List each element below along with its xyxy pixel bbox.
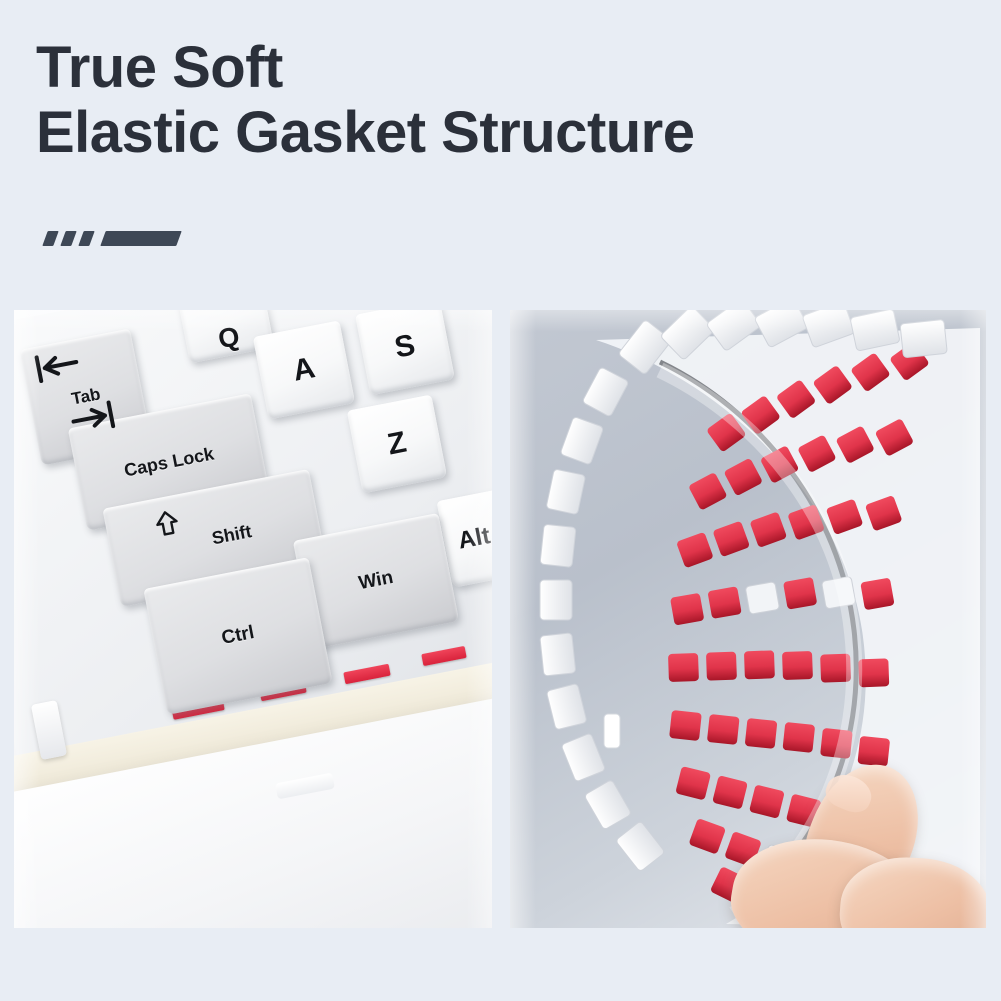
keycap-label: Z [385,426,409,463]
divider-bar-icon [100,231,181,246]
slanted-bar-divider [45,228,179,248]
keycap-label: Caps Lock [122,443,215,481]
divider-tick-icon [78,231,94,246]
headline-line-2: Elastic Gasket Structure [36,103,936,162]
keycap-label: Q [216,320,243,354]
divider-tick-icon [60,231,76,246]
keycap-label: A [290,351,318,389]
keycap-label: Alt [456,522,492,556]
page-title: True Soft Elastic Gasket Structure [36,38,936,162]
headline-line-1: True Soft [36,38,936,97]
divider-tick-icon [42,231,58,246]
tab-arrows-icon [28,339,130,446]
keycap-z[interactable]: Z [347,395,447,494]
keycap-label: S [392,328,418,365]
keycap-label: Shift [210,521,253,549]
photo-flexible-pcb-bend [510,310,986,928]
keycap-label: Ctrl [220,622,256,650]
keycap-label: Win [357,567,395,595]
photo-keyboard-gasket-cutaway: Q Tab A S Caps Lock Z Shift [14,310,492,928]
shift-up-arrow-icon [152,508,182,538]
keycap-a[interactable]: A [253,320,355,419]
